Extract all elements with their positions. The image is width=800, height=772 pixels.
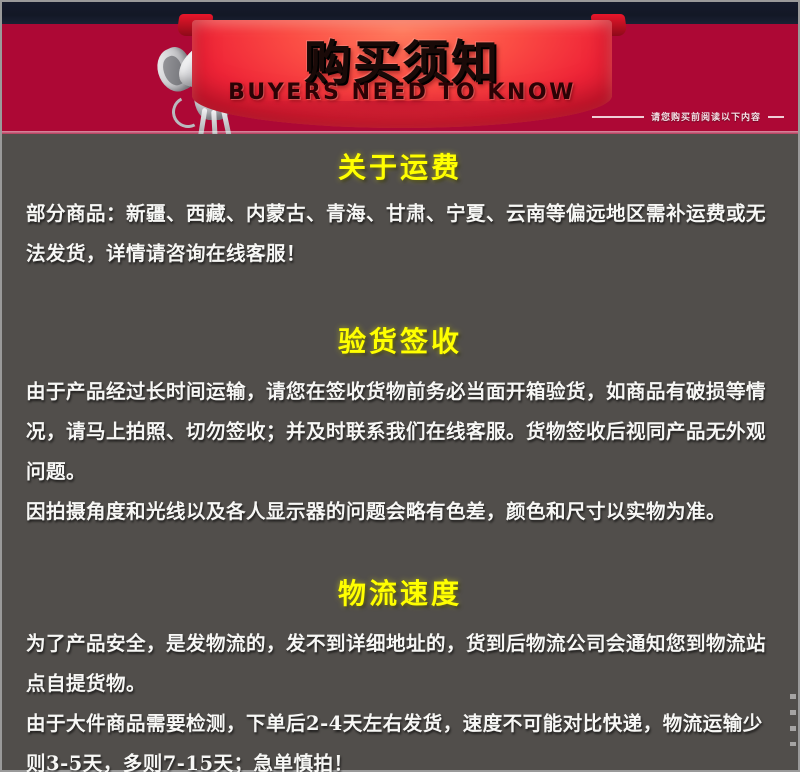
title-ribbon: 购买须知 BUYERS NEED TO KNOW (192, 14, 612, 134)
buyer-notice-page: 购买须知 BUYERS NEED TO KNOW 请您购买前阅读以下内容 关于运… (0, 0, 800, 772)
paragraph: 由于大件商品需要检测，下单后2-4天左右发货，速度不可能对比快递，物流运输少则3… (26, 704, 774, 772)
note-rule-right (768, 116, 784, 118)
banner-header: 购买须知 BUYERS NEED TO KNOW 请您购买前阅读以下内容 (0, 0, 800, 134)
section-body-logistics-speed: 为了产品安全，是发物流的，发不到详细地址的，货到后物流公司会通知您到物流站点自提… (26, 612, 774, 772)
section-body-shipping-fee: 部分商品：新疆、西藏、内蒙古、青海、甘肃、宁夏、云南等偏远地区需补运费或无法发货… (26, 186, 774, 274)
section-heading-shipping-fee: 关于运费 (26, 134, 774, 186)
section-heading-logistics-speed: 物流速度 (26, 532, 774, 612)
paragraph: 由于产品经过长时间运输，请您在签收货物前务必当面开箱验货，如商品有破损等情况，请… (26, 372, 774, 492)
paragraph: 部分商品：新疆、西藏、内蒙古、青海、甘肃、宁夏、云南等偏远地区需补运费或无法发货… (26, 194, 774, 274)
section-body-inspection: 由于产品经过长时间运输，请您在签收货物前务必当面开箱验货，如商品有破损等情况，请… (26, 360, 774, 532)
section-heading-inspection: 验货签收 (26, 274, 774, 360)
banner-title-en: BUYERS NEED TO KNOW (192, 80, 612, 105)
banner-note-text: 请您购买前阅读以下内容 (651, 110, 761, 123)
paragraph: 为了产品安全，是发物流的，发不到详细地址的，货到后物流公司会通知您到物流站点自提… (26, 624, 774, 704)
edge-watermark-fragment (790, 694, 796, 746)
paragraph: 因拍摄角度和光线以及各人显示器的问题会略有色差，颜色和尺寸以实物为准。 (26, 492, 774, 532)
note-rule-left (592, 116, 644, 118)
banner-note: 请您购买前阅读以下内容 (592, 110, 784, 123)
notice-content: 关于运费 部分商品：新疆、西藏、内蒙古、青海、甘肃、宁夏、云南等偏远地区需补运费… (0, 134, 800, 772)
